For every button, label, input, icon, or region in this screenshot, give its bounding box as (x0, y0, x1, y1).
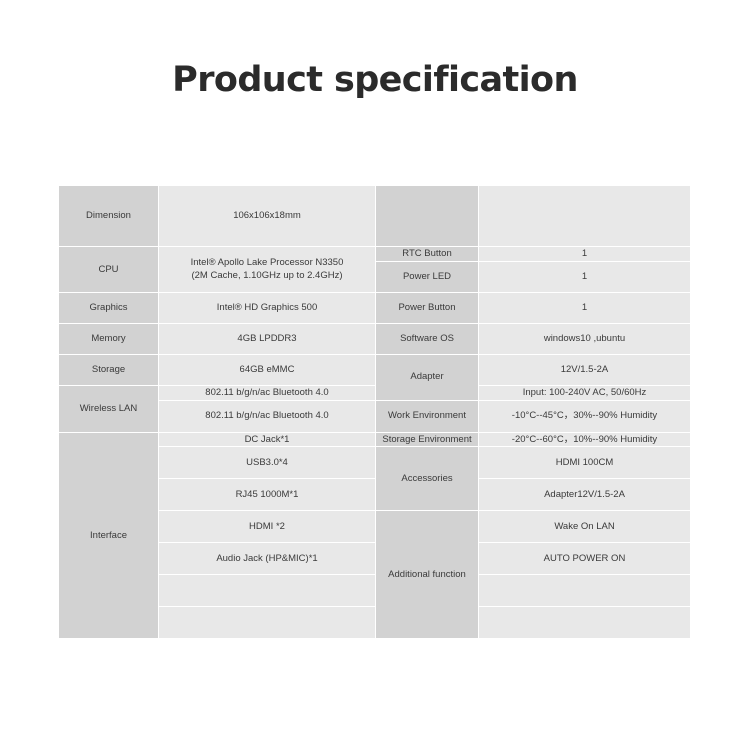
spec-value-rtc-button: 1 (479, 247, 691, 262)
spec-label-additional-function: Additional function (376, 511, 479, 639)
spec-value-additional-function-blank-2 (479, 607, 691, 639)
spec-value-interface-blank-1 (159, 575, 376, 607)
spec-label-cpu: CPU (59, 247, 159, 293)
spec-label-power-button: Power Button (376, 292, 479, 323)
table-row: Memory 4GB LPDDR3 Software OS windows10 … (59, 323, 691, 354)
specification-table-body: Dimension 106x106x18mm CPU Intel® Apollo… (59, 186, 691, 639)
product-specification-page: Product specification Dimension 106x106x… (0, 0, 750, 750)
spec-label-interface: Interface (59, 432, 159, 639)
spec-label-storage: Storage (59, 354, 159, 385)
spec-value-accessories-2: Adapter12V/1.5-2A (479, 479, 691, 511)
table-row: Storage 64GB eMMC Adapter 12V/1.5-2A (59, 354, 691, 385)
spec-label-software-os: Software OS (376, 323, 479, 354)
spec-value-interface-3: RJ45 1000M*1 (159, 479, 376, 511)
table-row: Dimension 106x106x18mm (59, 186, 691, 247)
spec-value-storage: 64GB eMMC (159, 354, 376, 385)
spec-value-wireless-lan-1: 802.11 b/g/n/ac Bluetooth 4.0 (159, 385, 376, 400)
spec-value-additional-function-1: Wake On LAN (479, 511, 691, 543)
spec-value-adapter-1: 12V/1.5-2A (479, 354, 691, 385)
spec-value-adapter-2: Input: 100-240V AC, 50/60Hz (479, 385, 691, 400)
spec-value-power-button: 1 (479, 292, 691, 323)
spec-value-dimension: 106x106x18mm (159, 186, 376, 247)
spec-value-cpu: Intel® Apollo Lake Processor N3350 (2M C… (159, 247, 376, 293)
spec-label-wireless-lan: Wireless LAN (59, 385, 159, 432)
spec-value-interface-5: Audio Jack (HP&MIC)*1 (159, 543, 376, 575)
spec-value-interface-1: DC Jack*1 (159, 432, 376, 447)
spec-value-additional-function-2: AUTO POWER ON (479, 543, 691, 575)
spec-label-rtc-button: RTC Button (376, 247, 479, 262)
spec-value-memory: 4GB LPDDR3 (159, 323, 376, 354)
spec-label-work-environment: Work Environment (376, 400, 479, 432)
spec-label-storage-environment: Storage Environment (376, 432, 479, 447)
spec-label-graphics: Graphics (59, 292, 159, 323)
spec-value-wireless-lan-2: 802.11 b/g/n/ac Bluetooth 4.0 (159, 400, 376, 432)
spec-value-interface-2: USB3.0*4 (159, 447, 376, 479)
spec-value-blank (479, 186, 691, 247)
spec-label-memory: Memory (59, 323, 159, 354)
spec-value-work-environment: -10°C--45°C，30%--90% Humidity (479, 400, 691, 432)
spec-label-adapter: Adapter (376, 354, 479, 400)
spec-value-additional-function-blank-1 (479, 575, 691, 607)
table-row: Graphics Intel® HD Graphics 500 Power Bu… (59, 292, 691, 323)
spec-label-power-led: Power LED (376, 261, 479, 292)
table-row: Interface DC Jack*1 Storage Environment … (59, 432, 691, 447)
spec-value-interface-4: HDMI *2 (159, 511, 376, 543)
page-title: Product specification (0, 60, 750, 100)
spec-label-dimension: Dimension (59, 186, 159, 247)
spec-value-accessories-1: HDMI 100CM (479, 447, 691, 479)
spec-value-storage-environment: -20°C--60°C，10%--90% Humidity (479, 432, 691, 447)
spec-value-power-led: 1 (479, 261, 691, 292)
table-row: Wireless LAN 802.11 b/g/n/ac Bluetooth 4… (59, 385, 691, 400)
spec-value-graphics: Intel® HD Graphics 500 (159, 292, 376, 323)
spec-label-accessories: Accessories (376, 447, 479, 511)
specification-table: Dimension 106x106x18mm CPU Intel® Apollo… (58, 185, 691, 639)
spec-value-interface-blank-2 (159, 607, 376, 639)
table-row: CPU Intel® Apollo Lake Processor N3350 (… (59, 247, 691, 262)
spec-value-software-os: windows10 ,ubuntu (479, 323, 691, 354)
spec-label-blank (376, 186, 479, 247)
